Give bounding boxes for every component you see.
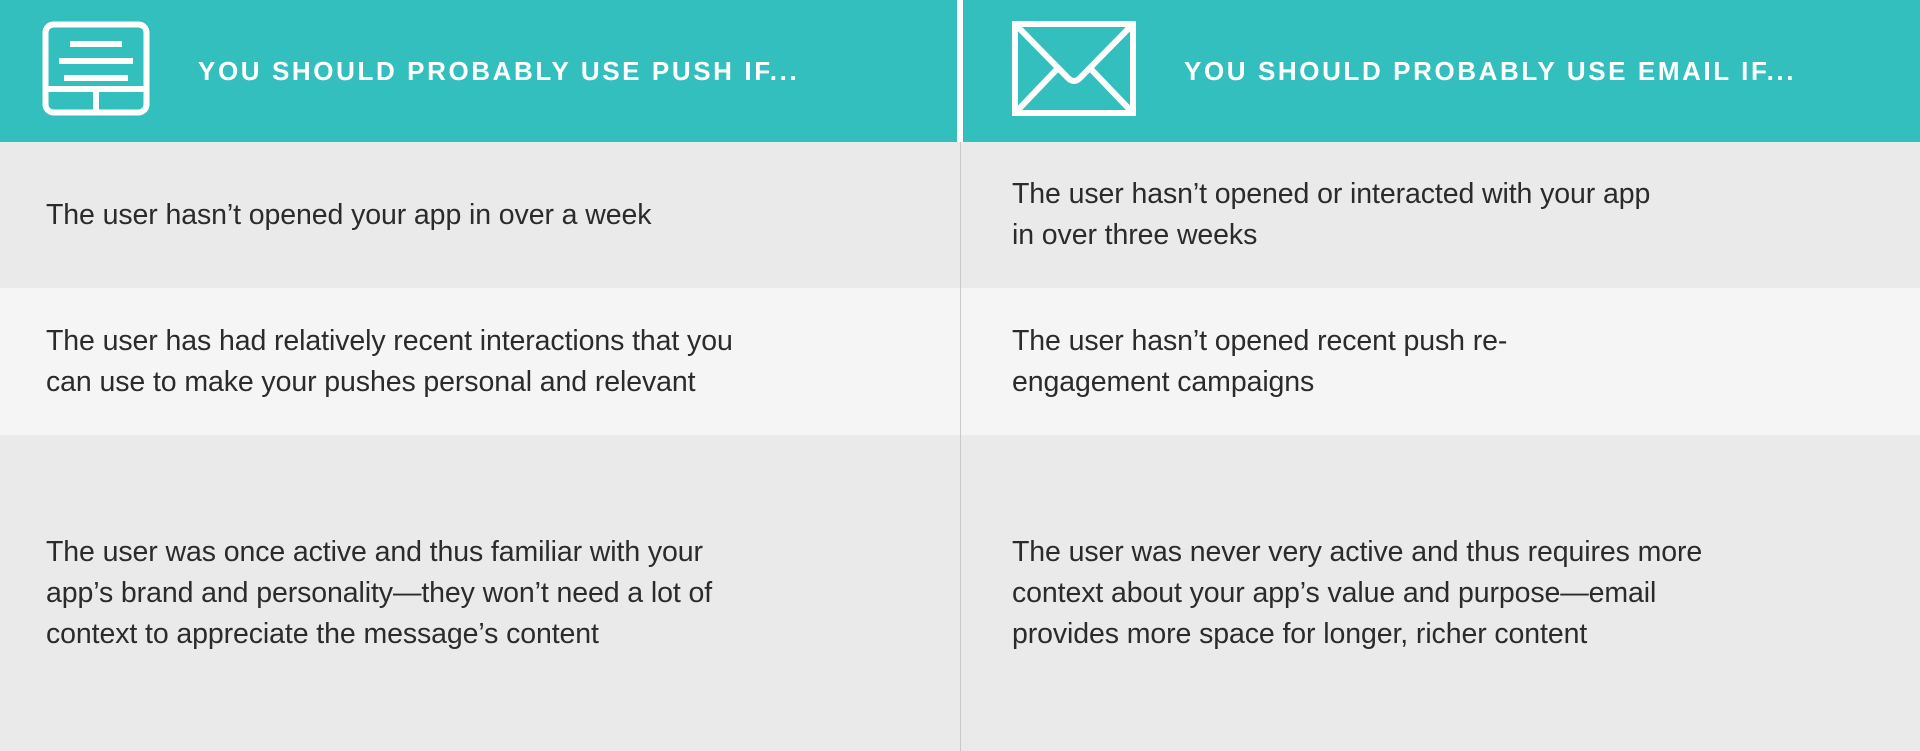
- table-row: The user has had relatively recent inter…: [0, 288, 1920, 435]
- cell-email-2: The user hasn’t opened recent push re-en…: [960, 288, 1920, 435]
- table-body: The user hasn’t opened your app in over …: [0, 142, 1920, 751]
- header-cell-email: YOU SHOULD PROBABLY USE EMAIL IF...: [960, 0, 1920, 142]
- table-row: The user hasn’t opened your app in over …: [0, 142, 1920, 288]
- cell-text: The user hasn’t opened or interacted wit…: [1012, 174, 1672, 256]
- cell-text: The user has had relatively recent inter…: [46, 321, 746, 403]
- cell-text: The user was once active and thus famili…: [46, 532, 736, 655]
- table-header: YOU SHOULD PROBABLY USE PUSH IF... YOU S…: [0, 0, 1920, 142]
- table-row: The user was once active and thus famili…: [0, 435, 1920, 751]
- envelope-icon: [1012, 21, 1136, 121]
- push-notification-icon: [42, 21, 150, 121]
- cell-email-3: The user was never very active and thus …: [960, 435, 1920, 751]
- cell-push-1: The user hasn’t opened your app in over …: [0, 142, 960, 288]
- cell-push-2: The user has had relatively recent inter…: [0, 288, 960, 435]
- cell-email-1: The user hasn’t opened or interacted wit…: [960, 142, 1920, 288]
- header-title-push: YOU SHOULD PROBABLY USE PUSH IF...: [198, 56, 799, 87]
- header-cell-push: YOU SHOULD PROBABLY USE PUSH IF...: [0, 0, 960, 142]
- cell-push-3: The user was once active and thus famili…: [0, 435, 960, 751]
- cell-text: The user hasn’t opened recent push re-en…: [1012, 321, 1612, 403]
- comparison-table: YOU SHOULD PROBABLY USE PUSH IF... YOU S…: [0, 0, 1920, 751]
- cell-text: The user hasn’t opened your app in over …: [46, 195, 651, 236]
- cell-text: The user was never very active and thus …: [1012, 532, 1712, 655]
- header-title-email: YOU SHOULD PROBABLY USE EMAIL IF...: [1184, 56, 1796, 87]
